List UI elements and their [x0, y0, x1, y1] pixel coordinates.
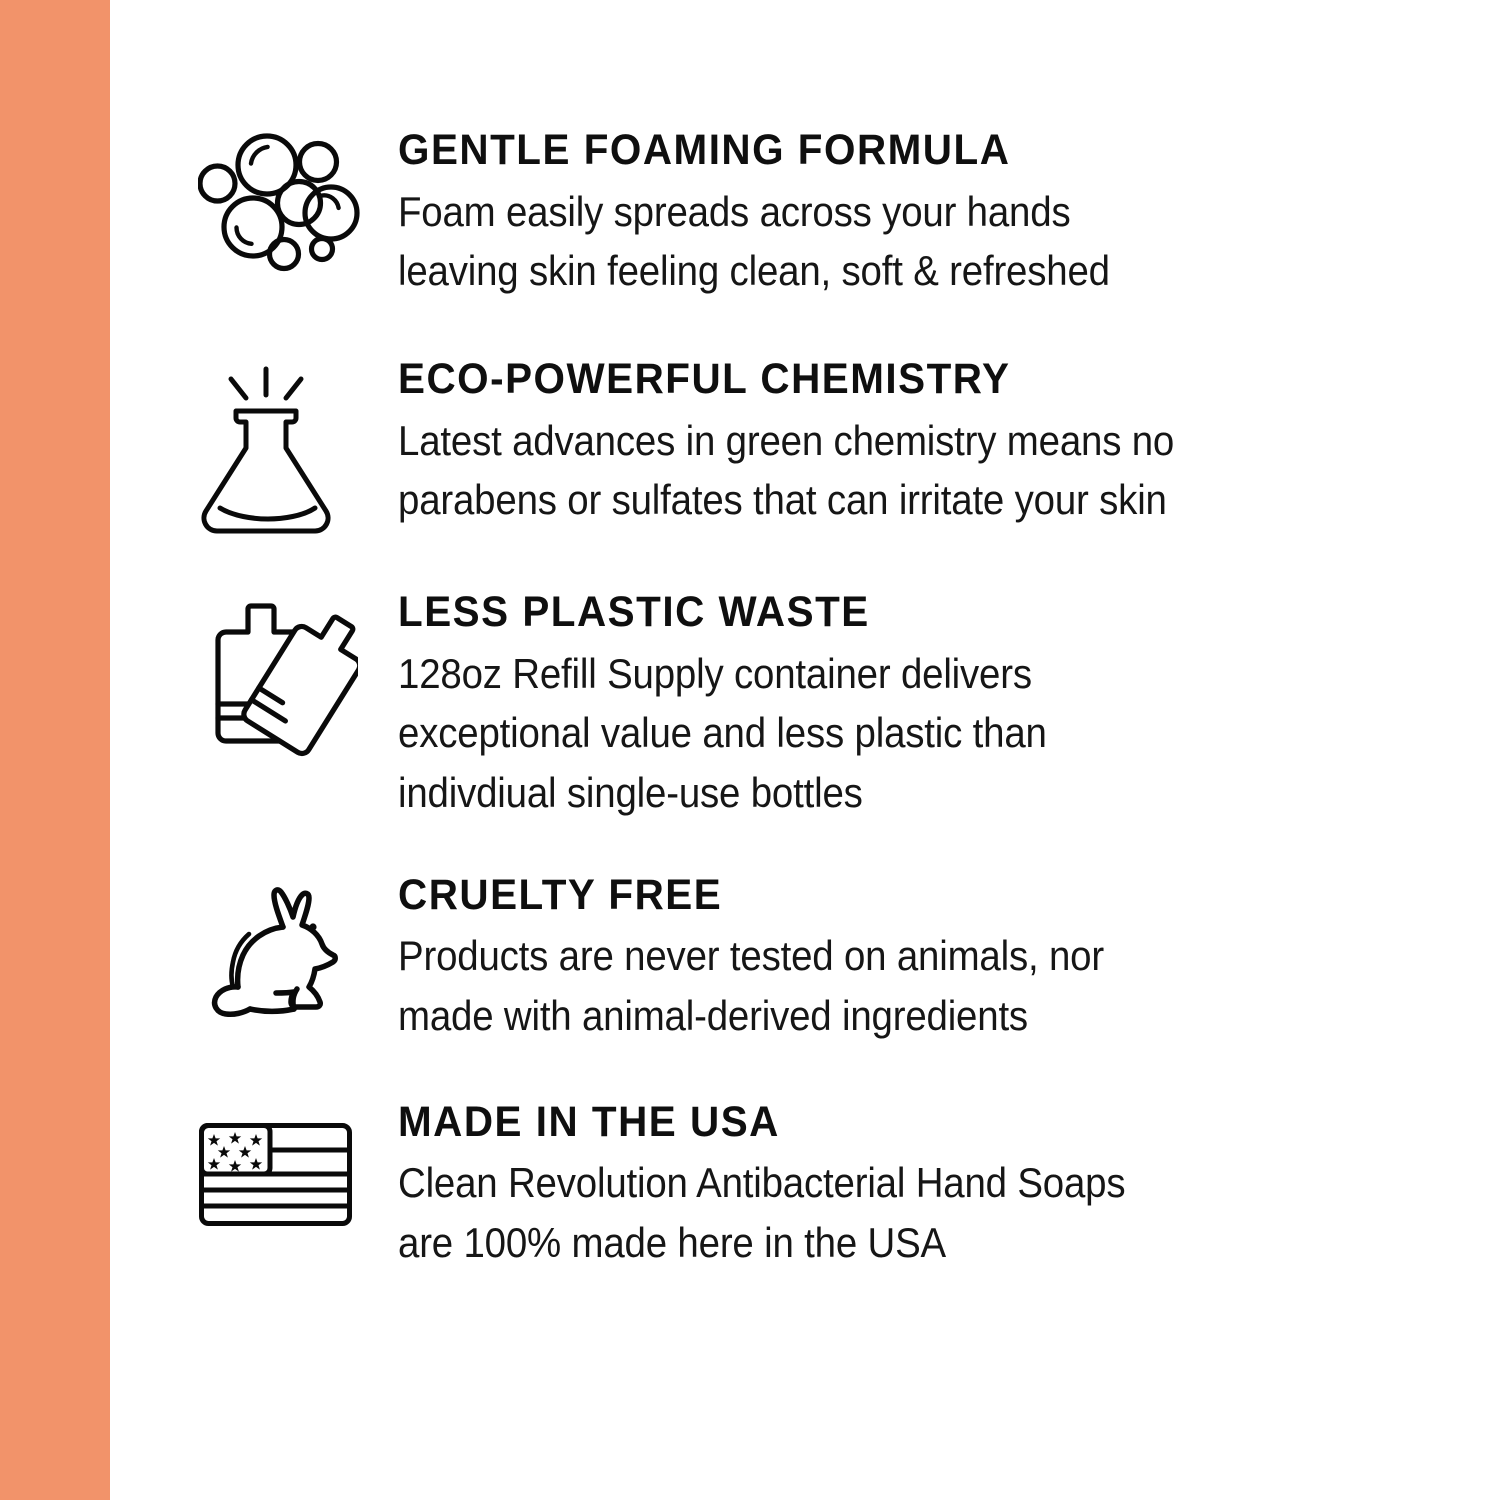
feature-text: CRUELTY FREE Products are never tested o… [398, 873, 1460, 1046]
feature-text: LESS PLASTIC WASTE 128oz Refill Supply c… [398, 590, 1460, 823]
feature-list: GENTLE FOAMING FORMULA Foam easily sprea… [110, 0, 1500, 1500]
feature-text: MADE IN THE USA Clean Revolution Antibac… [398, 1100, 1460, 1273]
feature-description: Products are never tested on animals, no… [398, 926, 1370, 1045]
feature-title: CRUELTY FREE [398, 873, 1396, 918]
feature-item-eco-powerful-chemistry: ECO-POWERFUL CHEMISTRY Latest advances i… [198, 357, 1460, 540]
feature-text: GENTLE FOAMING FORMULA Foam easily sprea… [398, 128, 1460, 301]
product-benefits-infographic: GENTLE FOAMING FORMULA Foam easily sprea… [0, 0, 1500, 1500]
left-accent-stripe [0, 0, 110, 1500]
feature-item-gentle-foaming-formula: GENTLE FOAMING FORMULA Foam easily sprea… [198, 128, 1460, 301]
rabbit-icon [198, 873, 398, 1020]
usa-flag-icon [198, 1100, 398, 1227]
bottles-icon [198, 590, 398, 761]
feature-text: ECO-POWERFUL CHEMISTRY Latest advances i… [398, 357, 1460, 530]
feature-title: MADE IN THE USA [398, 1100, 1396, 1145]
feature-item-made-in-the-usa: MADE IN THE USA Clean Revolution Antibac… [198, 1100, 1460, 1273]
feature-title: GENTLE FOAMING FORMULA [398, 128, 1396, 173]
bubbles-icon [198, 128, 398, 272]
feature-description: Foam easily spreads across your hands le… [398, 182, 1370, 301]
feature-item-less-plastic-waste: LESS PLASTIC WASTE 128oz Refill Supply c… [198, 590, 1460, 823]
feature-item-cruelty-free: CRUELTY FREE Products are never tested o… [198, 873, 1460, 1046]
feature-description: 128oz Refill Supply container delivers e… [398, 644, 1370, 823]
feature-title: LESS PLASTIC WASTE [398, 590, 1396, 635]
feature-description: Clean Revolution Antibacterial Hand Soap… [398, 1153, 1370, 1272]
flask-icon [198, 357, 398, 540]
feature-description: Latest advances in green chemistry means… [398, 411, 1370, 530]
feature-title: ECO-POWERFUL CHEMISTRY [398, 357, 1396, 402]
